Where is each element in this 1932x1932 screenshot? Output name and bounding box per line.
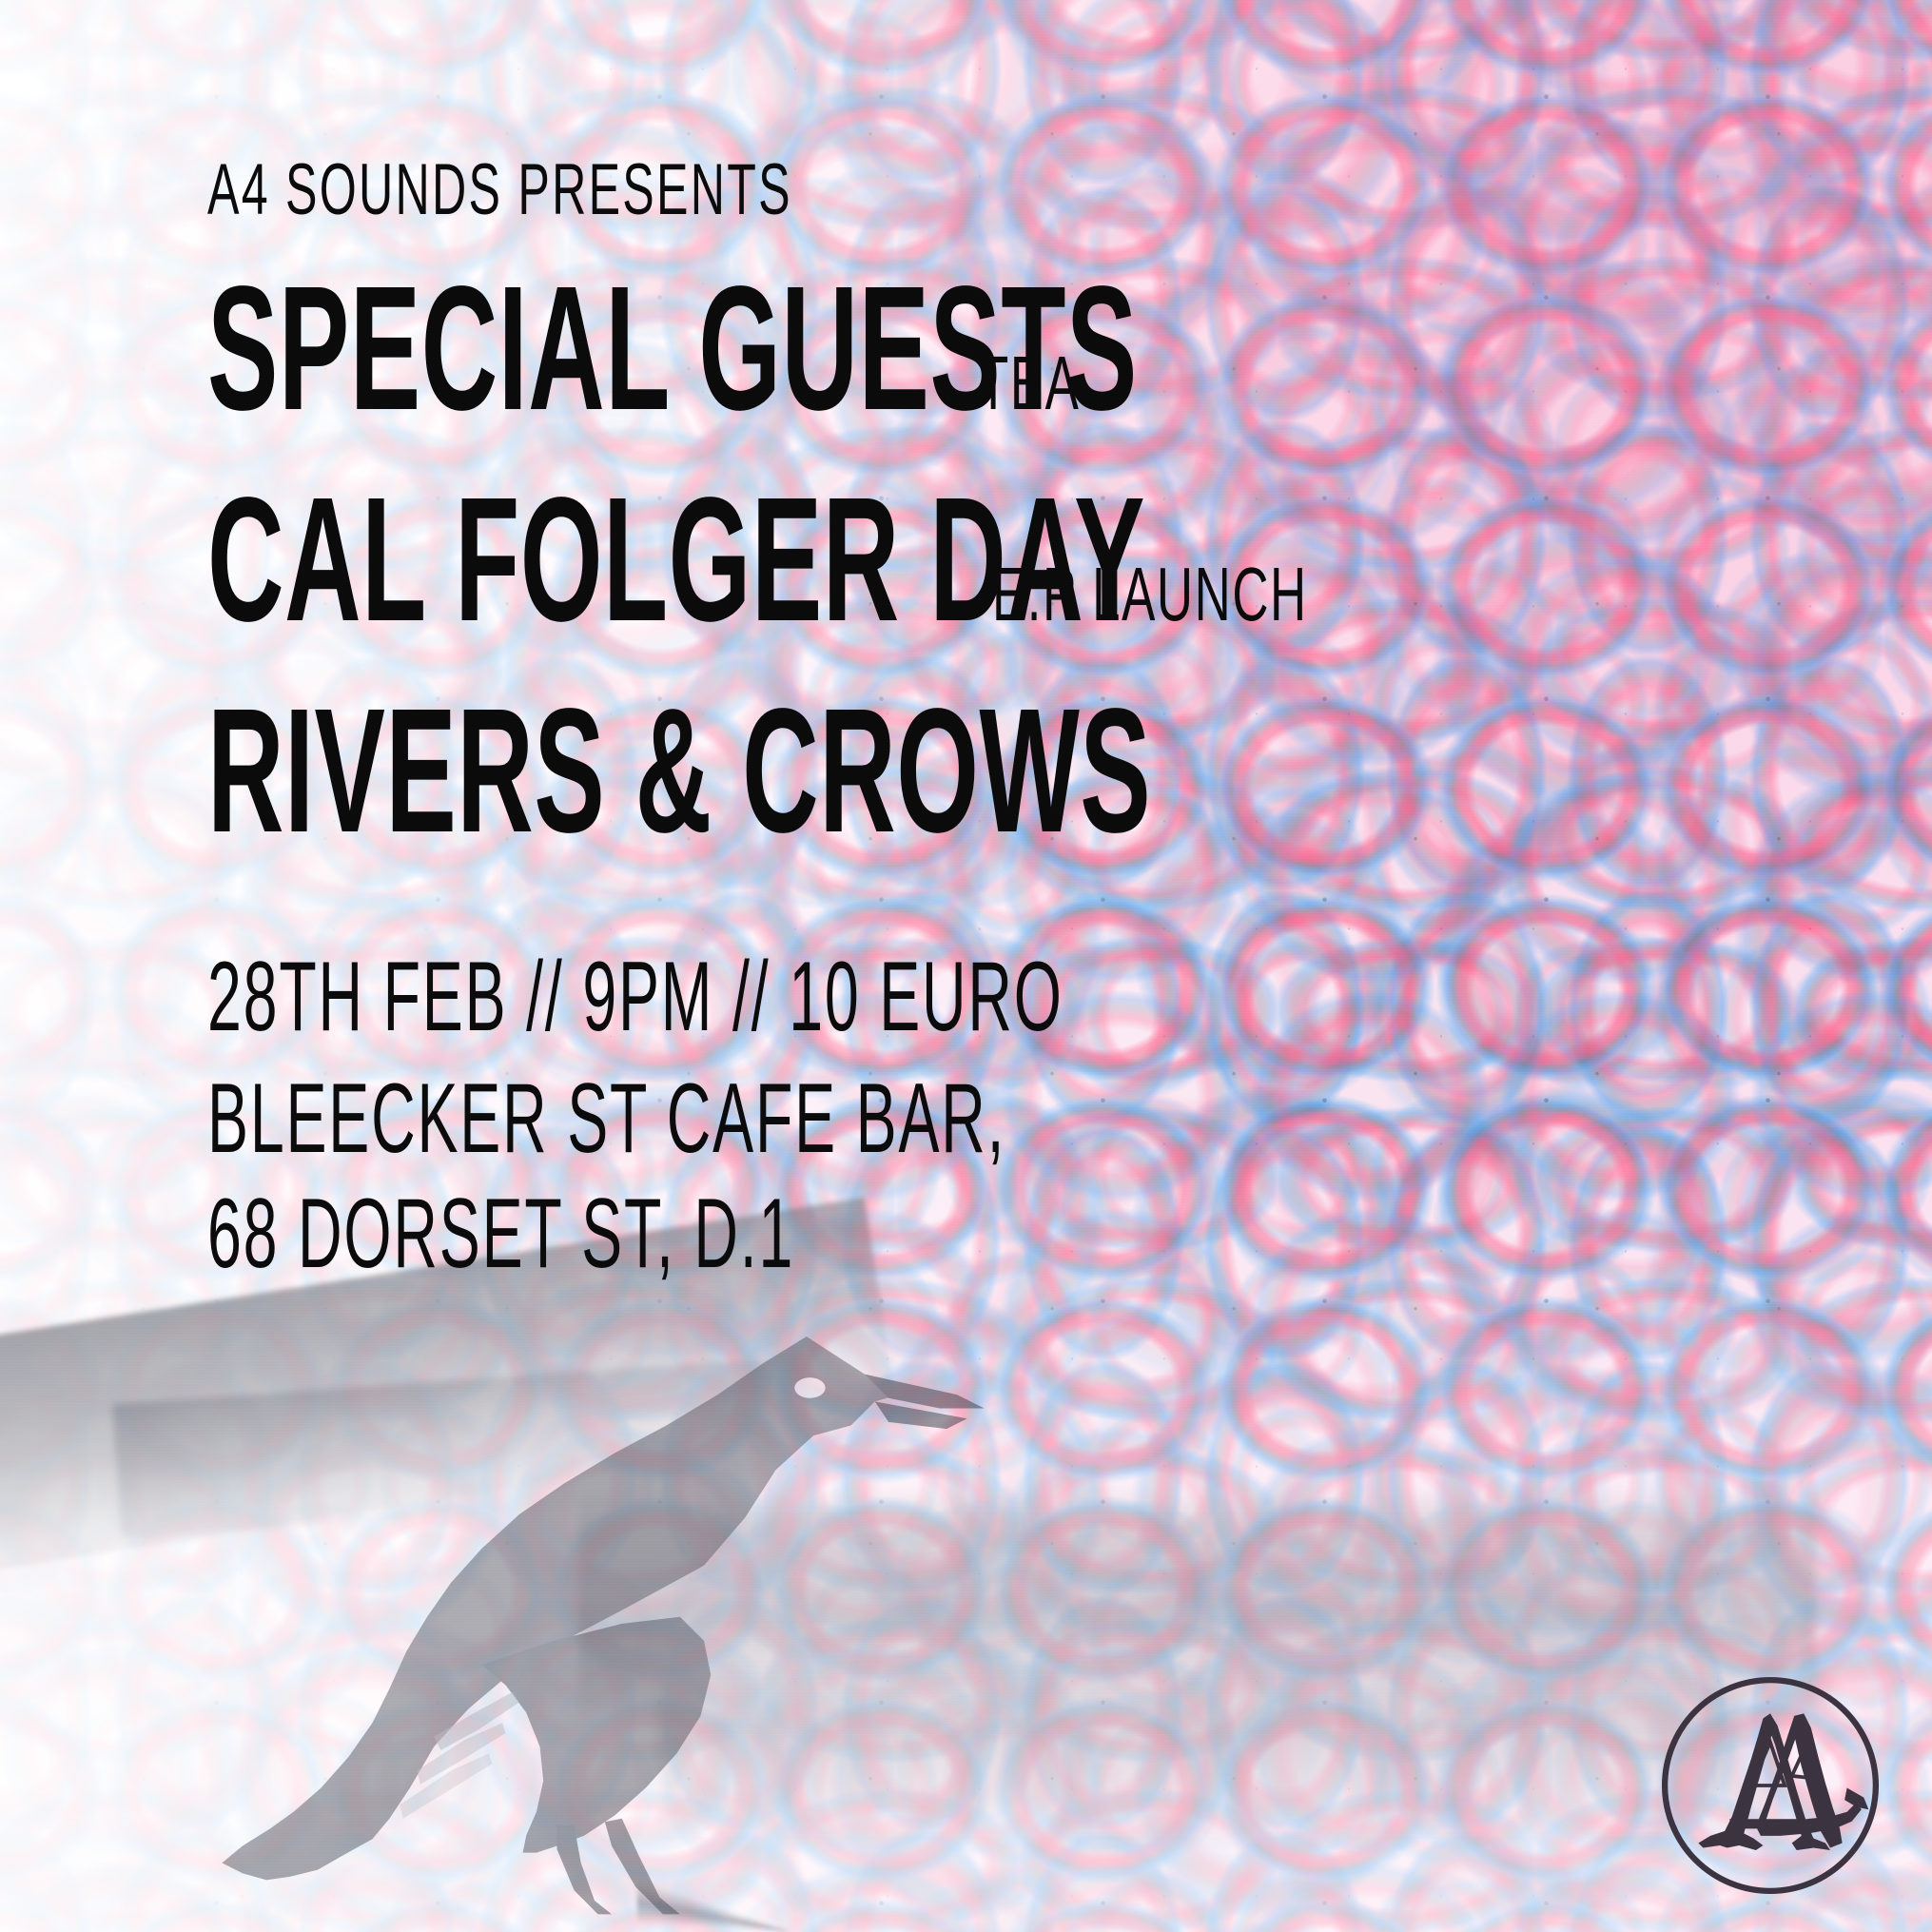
act-name-3: RIVERS & CROWS (207, 683, 1012, 860)
act-note-1: TBA (978, 345, 1135, 421)
venue-address: 68 DORSET ST, D.1 (207, 1181, 1277, 1287)
venue-name: BLEECKER ST CAFE BAR, (207, 1065, 1277, 1172)
act-name-2: CAL FOLGER DAY (207, 472, 975, 649)
lineup-row-3: RIVERS & CROWS (207, 683, 1932, 860)
poster-text-block: A4 SOUNDS PRESENTS SPECIAL GUESTSTBA CAL… (0, 0, 1932, 1302)
act-note-2: E.P LAUNCH (992, 556, 1281, 633)
crow-silhouette (116, 1295, 1005, 1932)
date-time-price: 28TH FEB // 9PM // 10 EURO (207, 944, 1277, 1050)
lineup-row-2: CAL FOLGER DAYE.P LAUNCH (207, 472, 1932, 649)
gig-poster: A4 SOUNDS PRESENTS SPECIAL GUESTSTBA CAL… (0, 0, 1932, 1932)
presenter-line: A4 SOUNDS PRESENTS (207, 154, 1346, 226)
lineup-row-1: SPECIAL GUESTSTBA (207, 261, 1932, 438)
act-name-1: SPECIAL GUESTS (207, 261, 966, 438)
a4-sounds-logo[interactable] (1650, 1666, 1890, 1905)
